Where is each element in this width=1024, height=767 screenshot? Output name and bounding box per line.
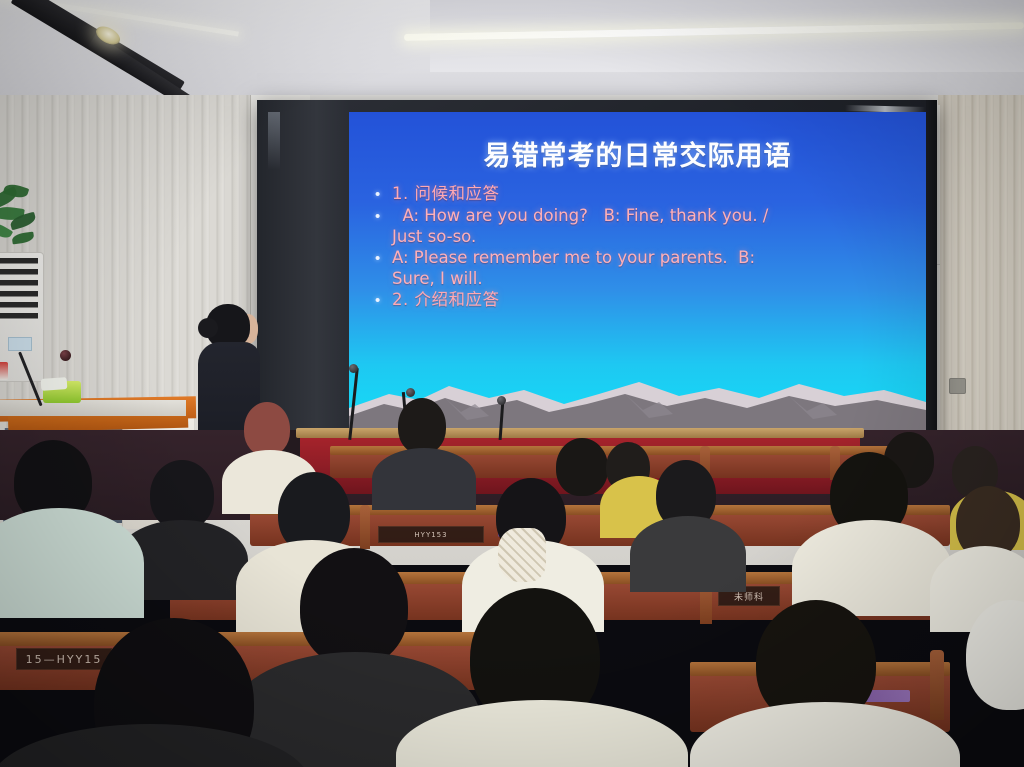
slide-bullet-text: 1. 问候和应答 <box>392 184 905 205</box>
audience-shoulders <box>630 516 746 592</box>
hair-scrunchie <box>498 528 546 582</box>
audience-head <box>556 438 608 496</box>
wall-switch-icon[interactable] <box>949 378 966 394</box>
air-conditioner-display <box>8 337 32 351</box>
potted-plant <box>0 185 56 255</box>
cup <box>0 362 8 380</box>
bench-armrest <box>930 650 944 720</box>
microphone-icon <box>349 364 358 373</box>
bullet-dot-icon: • <box>375 248 392 269</box>
wall-slat-panel-right <box>938 95 1024 465</box>
list-item: • A: How are you doing? B: Fine, thank y… <box>375 206 905 247</box>
lecture-hall-photo: 易错常考的日常交际用语 • 1. 问候和应答 • A: How are you … <box>0 0 1024 767</box>
slide-bullet-list: • 1. 问候和应答 • A: How are you doing? B: Fi… <box>375 184 905 312</box>
slide-bullet-text: A: How are you doing? B: Fine, thank you… <box>392 206 905 247</box>
audience-head-foreground <box>300 548 408 666</box>
lectern-top-surface <box>0 400 186 416</box>
microphone-icon <box>406 388 415 397</box>
bullet-dot-icon: • <box>375 290 392 311</box>
microphone-icon <box>497 396 506 405</box>
bench-armrest <box>360 505 370 549</box>
list-item: • 2. 介绍和应答 <box>375 290 905 311</box>
air-conditioner-vents-icon <box>0 258 38 320</box>
bullet-dot-icon: • <box>375 184 392 205</box>
slide-title: 易错常考的日常交际用语 <box>349 134 926 173</box>
seat-plate: HYY153 <box>378 526 484 543</box>
projected-slide: 易错常考的日常交际用语 • 1. 问候和应答 • A: How are you … <box>349 112 926 436</box>
audience-head <box>244 402 290 456</box>
seat-plate: 15—HYY15 <box>16 648 112 670</box>
screen-bezel-right <box>926 100 937 448</box>
stage-table-edge <box>296 428 864 438</box>
bullet-dot-icon: • <box>375 206 392 227</box>
bench-rail-front <box>0 632 540 646</box>
slide-bullet-text: 2. 介绍和应答 <box>392 290 905 311</box>
microphone-icon <box>60 350 71 361</box>
slide-bullet-text: A: Please remember me to your parents. B… <box>392 248 905 289</box>
presenter-hair-bun <box>198 318 218 338</box>
list-item: • 1. 问候和应答 <box>375 184 905 205</box>
screen-bezel-glint-left <box>268 112 280 170</box>
list-item: • A: Please remember me to your parents.… <box>375 248 905 289</box>
audience-shoulders <box>372 448 476 510</box>
audience-head <box>398 398 446 454</box>
tissue-sheet <box>41 377 68 391</box>
